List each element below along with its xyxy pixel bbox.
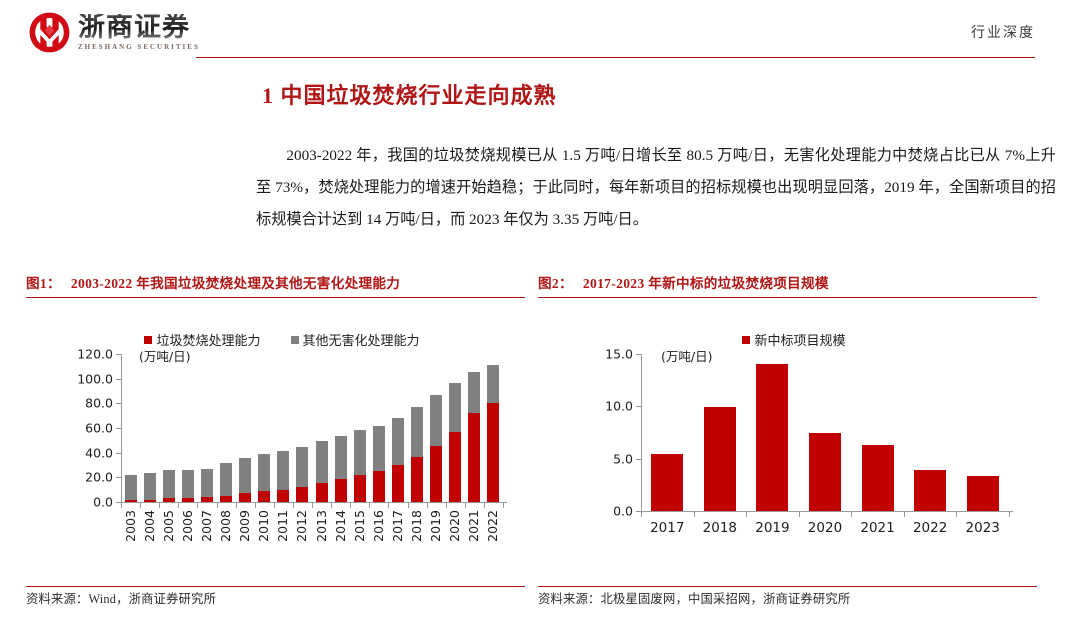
x-axis-tick-mark — [408, 503, 409, 508]
x-axis-tick-label: 2008 — [218, 510, 233, 542]
bar-segment-incineration — [182, 498, 194, 502]
bar-segment-incineration — [430, 446, 442, 502]
bar-segment-other — [258, 454, 270, 491]
bar — [704, 407, 736, 511]
x-axis-tick-mark — [159, 503, 160, 508]
figure-1-footer-divider — [26, 586, 525, 587]
bar — [651, 454, 683, 511]
x-axis-tick-label: 2005 — [161, 510, 176, 542]
x-axis-tick-mark — [350, 503, 351, 508]
figure-1-title: 2003-2022 年我国垃圾焚烧处理及其他无害化处理能力 — [71, 276, 400, 291]
y-axis-tick-mark — [636, 354, 641, 355]
bar-segment-incineration — [201, 497, 213, 502]
x-axis-tick-mark — [331, 503, 332, 508]
x-axis-tick-label: 2013 — [314, 510, 329, 542]
figure-1-caption: 图1：2003-2022 年我国垃圾焚烧处理及其他无害化处理能力 — [26, 272, 538, 292]
bar-segment-incineration — [335, 479, 347, 502]
y-axis-tick-label: 120.0 — [77, 347, 113, 362]
bar-segment-other — [373, 426, 385, 471]
y-axis-tick-mark — [116, 403, 121, 404]
bar-segment-other — [277, 451, 289, 490]
bar — [220, 463, 232, 502]
y-axis-tick-label: 5.0 — [613, 451, 633, 466]
x-axis-tick-mark — [388, 503, 389, 508]
y-axis-tick-label: 40.0 — [85, 445, 113, 460]
brand-text: 浙商证券 ZHESHANG SECURITIES — [78, 14, 200, 51]
bar-segment-other — [144, 473, 156, 500]
y-axis-tick-label: 20.0 — [85, 470, 113, 485]
x-axis-tick-label: 2014 — [333, 510, 348, 542]
bar-segment-other — [468, 372, 480, 414]
chart-1: 垃圾焚烧处理能力 其他无害化处理能力 0.020.040.060.080.010… — [26, 306, 538, 574]
bar-segment-incineration — [449, 432, 461, 502]
y-axis-tick-mark — [116, 453, 121, 454]
figure-1-number: 图1： — [26, 276, 61, 291]
x-axis-tick-mark — [851, 512, 852, 517]
brand-name-en: ZHESHANG SECURITIES — [78, 44, 200, 51]
x-axis-tick-label: 2012 — [294, 510, 309, 542]
bar-segment-incineration — [411, 457, 423, 502]
bar — [487, 365, 499, 502]
x-axis-tick-mark — [746, 512, 747, 517]
bar — [144, 473, 156, 502]
y-axis-line — [121, 354, 122, 503]
x-axis-tick-mark — [178, 503, 179, 508]
y-axis-tick-mark — [636, 406, 641, 407]
bar — [239, 458, 251, 502]
bar-segment-other — [354, 430, 366, 475]
x-axis-tick-mark — [312, 503, 313, 508]
x-axis-tick-mark — [217, 503, 218, 508]
figure-2-caption: 图2：2017-2023 年新中标的垃圾焚烧项目规模 — [538, 272, 1050, 292]
x-axis-tick-mark — [255, 503, 256, 508]
x-axis-tick-label: 2004 — [142, 510, 157, 542]
y-axis-tick-label: 80.0 — [85, 396, 113, 411]
bar-segment-other — [487, 365, 499, 402]
chart-unit-label: (万吨/日) — [139, 346, 190, 365]
chart-unit-label: (万吨/日) — [661, 346, 712, 365]
x-axis-tick-mark — [427, 503, 428, 508]
y-axis-tick-label: 100.0 — [77, 371, 113, 386]
x-axis-tick-mark — [293, 503, 294, 508]
x-axis-tick-label: 2016 — [371, 510, 386, 542]
bar — [258, 454, 270, 502]
bar-segment-incineration — [392, 465, 404, 502]
x-axis-tick-label: 2018 — [694, 520, 747, 536]
bar-segment-other — [392, 418, 404, 465]
x-axis-tick-label: 2022 — [904, 520, 957, 536]
figure-1: 图1：2003-2022 年我国垃圾焚烧处理及其他无害化处理能力 垃圾焚烧处理能… — [26, 272, 538, 617]
x-axis-tick-label: 2021 — [851, 520, 904, 536]
x-axis-tick-mark — [121, 503, 122, 508]
x-axis-tick-label: 2023 — [956, 520, 1009, 536]
x-axis-tick-mark — [369, 503, 370, 508]
bar-segment-other — [316, 441, 328, 482]
y-axis-line — [641, 354, 642, 512]
figure-2-source: 资料来源：北极星固废网，中国采招网，浙商证券研究所 — [538, 589, 1038, 607]
figure-2-number: 图2： — [538, 276, 573, 291]
bar-segment-other — [335, 436, 347, 479]
figure-1-caption-divider — [26, 297, 525, 298]
x-axis-tick-mark — [484, 503, 485, 508]
bar-segment-other — [125, 475, 137, 500]
x-axis-tick-label: 2009 — [237, 510, 252, 542]
brand-logo: 浙商证券 ZHESHANG SECURITIES — [28, 11, 200, 54]
figure-2-caption-divider — [538, 297, 1037, 298]
bar-segment-incineration — [144, 500, 156, 502]
y-axis-tick-mark — [116, 354, 121, 355]
bar-segment-incineration — [487, 403, 499, 502]
y-axis-tick-mark — [116, 477, 121, 478]
bar — [468, 372, 480, 502]
y-axis-tick-mark — [636, 459, 641, 460]
header-divider — [196, 57, 1035, 58]
y-axis-tick-label: 60.0 — [85, 421, 113, 436]
bar — [411, 407, 423, 502]
x-axis-tick-label: 2011 — [275, 510, 290, 542]
bar-segment-incineration — [296, 487, 308, 502]
bar — [449, 383, 461, 502]
bar-segment-other — [430, 395, 442, 446]
x-axis-tick-mark — [641, 512, 642, 517]
bar-segment-other — [163, 470, 175, 498]
x-axis-tick-mark — [197, 503, 198, 508]
x-axis-tick-label: 2019 — [428, 510, 443, 542]
bar-segment-incineration — [163, 498, 175, 502]
x-axis-tick-label: 2010 — [256, 510, 271, 542]
bar-segment-incineration — [220, 496, 232, 502]
bar — [125, 475, 137, 502]
x-axis-tick-mark — [904, 512, 905, 517]
x-axis-tick-label: 2007 — [199, 510, 214, 542]
zheshang-emblem-icon — [28, 11, 71, 54]
y-axis-tick-mark — [116, 428, 121, 429]
bar — [182, 470, 194, 502]
bar-segment-incineration — [468, 413, 480, 502]
bar — [809, 433, 841, 512]
chart-2-plot: 0.05.010.015.0(万吨/日)20172018201920202021… — [538, 306, 1050, 574]
chart-1-plot: 0.020.040.060.080.0100.0120.0(万吨/日)20032… — [26, 306, 538, 574]
bar-segment-other — [220, 463, 232, 495]
x-axis-tick-mark — [465, 503, 466, 508]
figure-2-title: 2017-2023 年新中标的垃圾焚烧项目规模 — [583, 276, 829, 291]
x-axis-tick-mark — [236, 503, 237, 508]
bar-segment-other — [411, 407, 423, 457]
bar — [967, 476, 999, 511]
bar — [277, 451, 289, 502]
bar-segment-incineration — [239, 493, 251, 502]
figure-2-footer-divider — [538, 586, 1037, 587]
bar — [373, 426, 385, 502]
bar — [201, 469, 213, 502]
bar — [354, 430, 366, 502]
body-paragraph: 2003-2022 年，我国的垃圾焚烧规模已从 1.5 万吨/日增长至 80.5… — [256, 140, 1056, 236]
x-axis-tick-label: 2017 — [641, 520, 694, 536]
bar-segment-incineration — [125, 500, 137, 502]
x-axis-tick-label: 2020 — [799, 520, 852, 536]
x-axis-tick-label: 2022 — [485, 510, 500, 542]
bar-segment-other — [239, 458, 251, 493]
section-heading: 1 中国垃圾焚烧行业走向成熟 — [262, 78, 557, 110]
x-axis-tick-label: 2019 — [746, 520, 799, 536]
y-axis-tick-label: 10.0 — [605, 399, 633, 414]
bar — [756, 364, 788, 511]
x-axis-tick-mark — [140, 503, 141, 508]
bar-segment-incineration — [354, 475, 366, 502]
bar — [163, 470, 175, 502]
x-axis-tick-mark — [1009, 512, 1010, 517]
chart-2: 新中标项目规模 0.05.010.015.0(万吨/日)201720182019… — [538, 306, 1050, 574]
bar — [914, 470, 946, 511]
x-axis-tick-label: 2021 — [466, 510, 481, 542]
bar-segment-other — [182, 470, 194, 497]
x-axis-tick-mark — [503, 503, 504, 508]
x-axis-tick-label: 2017 — [390, 510, 405, 542]
x-axis-tick-label: 2020 — [447, 510, 462, 542]
bar — [296, 447, 308, 502]
x-axis-tick-mark — [956, 512, 957, 517]
bar-segment-incineration — [277, 490, 289, 502]
x-axis-tick-mark — [446, 503, 447, 508]
bar — [335, 436, 347, 502]
figure-2: 图2：2017-2023 年新中标的垃圾焚烧项目规模 新中标项目规模 0.05.… — [538, 272, 1050, 617]
bar-segment-incineration — [258, 491, 270, 502]
figure-1-source: 资料来源：Wind，浙商证券研究所 — [26, 589, 526, 607]
x-axis-tick-label: 2015 — [352, 510, 367, 542]
brand-name-cn: 浙商证券 — [78, 14, 200, 41]
x-axis-tick-label: 2003 — [123, 510, 138, 542]
y-axis-tick-label: 0.0 — [93, 495, 113, 510]
bar-segment-other — [296, 447, 308, 487]
bar — [430, 395, 442, 502]
bar — [862, 445, 894, 511]
bar — [316, 441, 328, 502]
y-axis-tick-mark — [116, 379, 121, 380]
page-header: 浙商证券 ZHESHANG SECURITIES 行业深度 — [0, 0, 1065, 68]
x-axis-tick-label: 2018 — [409, 510, 424, 542]
document-page: 浙商证券 ZHESHANG SECURITIES 行业深度 1 中国垃圾焚烧行业… — [0, 0, 1065, 631]
bar-segment-other — [449, 383, 461, 432]
y-axis-tick-label: 0.0 — [613, 504, 633, 519]
bar-segment-other — [201, 469, 213, 497]
bar-segment-incineration — [316, 483, 328, 502]
x-axis-tick-mark — [694, 512, 695, 517]
bar-segment-incineration — [373, 471, 385, 502]
bar — [392, 418, 404, 502]
x-axis-tick-label: 2006 — [180, 510, 195, 542]
header-report-type: 行业深度 — [971, 22, 1035, 42]
y-axis-tick-label: 15.0 — [605, 347, 633, 362]
x-axis-tick-mark — [799, 512, 800, 517]
x-axis-tick-mark — [274, 503, 275, 508]
